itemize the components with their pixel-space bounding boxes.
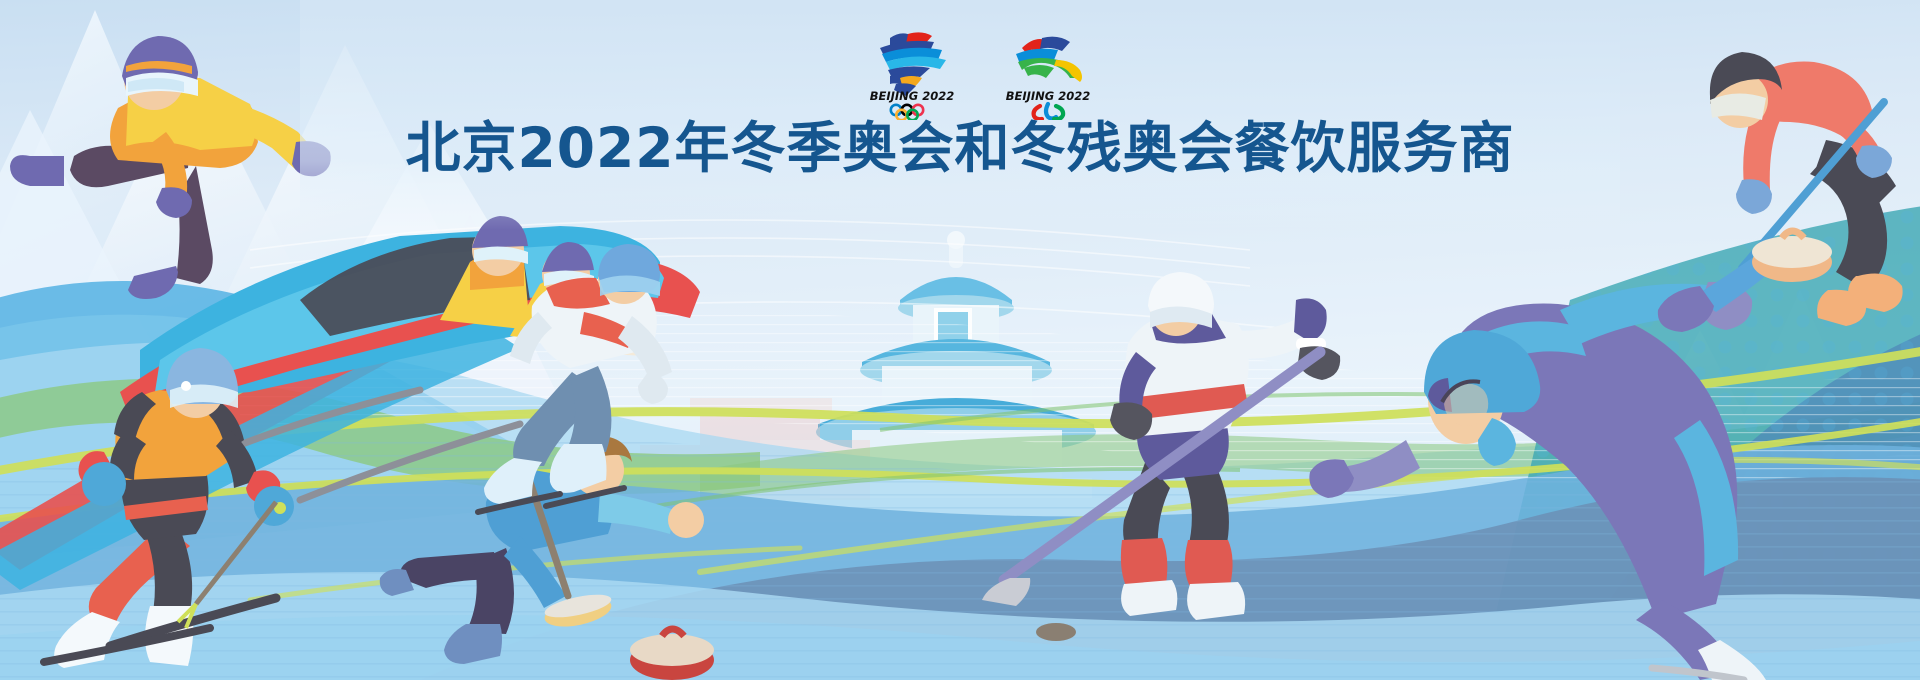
banner-title: 北京2022年冬季奥会和冬残奥会餐饮服务商 (0, 118, 1920, 179)
paralympic-wordmark: BEIJING 2022 (1006, 89, 1091, 103)
olympic-wordmark: BEIJING 2022 (870, 89, 955, 103)
paralympic-emblem[interactable]: BEIJING 2022 (996, 24, 1100, 120)
emblem-group: BEIJING 2022 BEIJING 2 (860, 24, 1100, 120)
olympic-emblem[interactable]: BEIJING 2022 (860, 24, 964, 120)
olympic-banner: BEIJING 2022 BEIJING 2 (0, 0, 1920, 680)
